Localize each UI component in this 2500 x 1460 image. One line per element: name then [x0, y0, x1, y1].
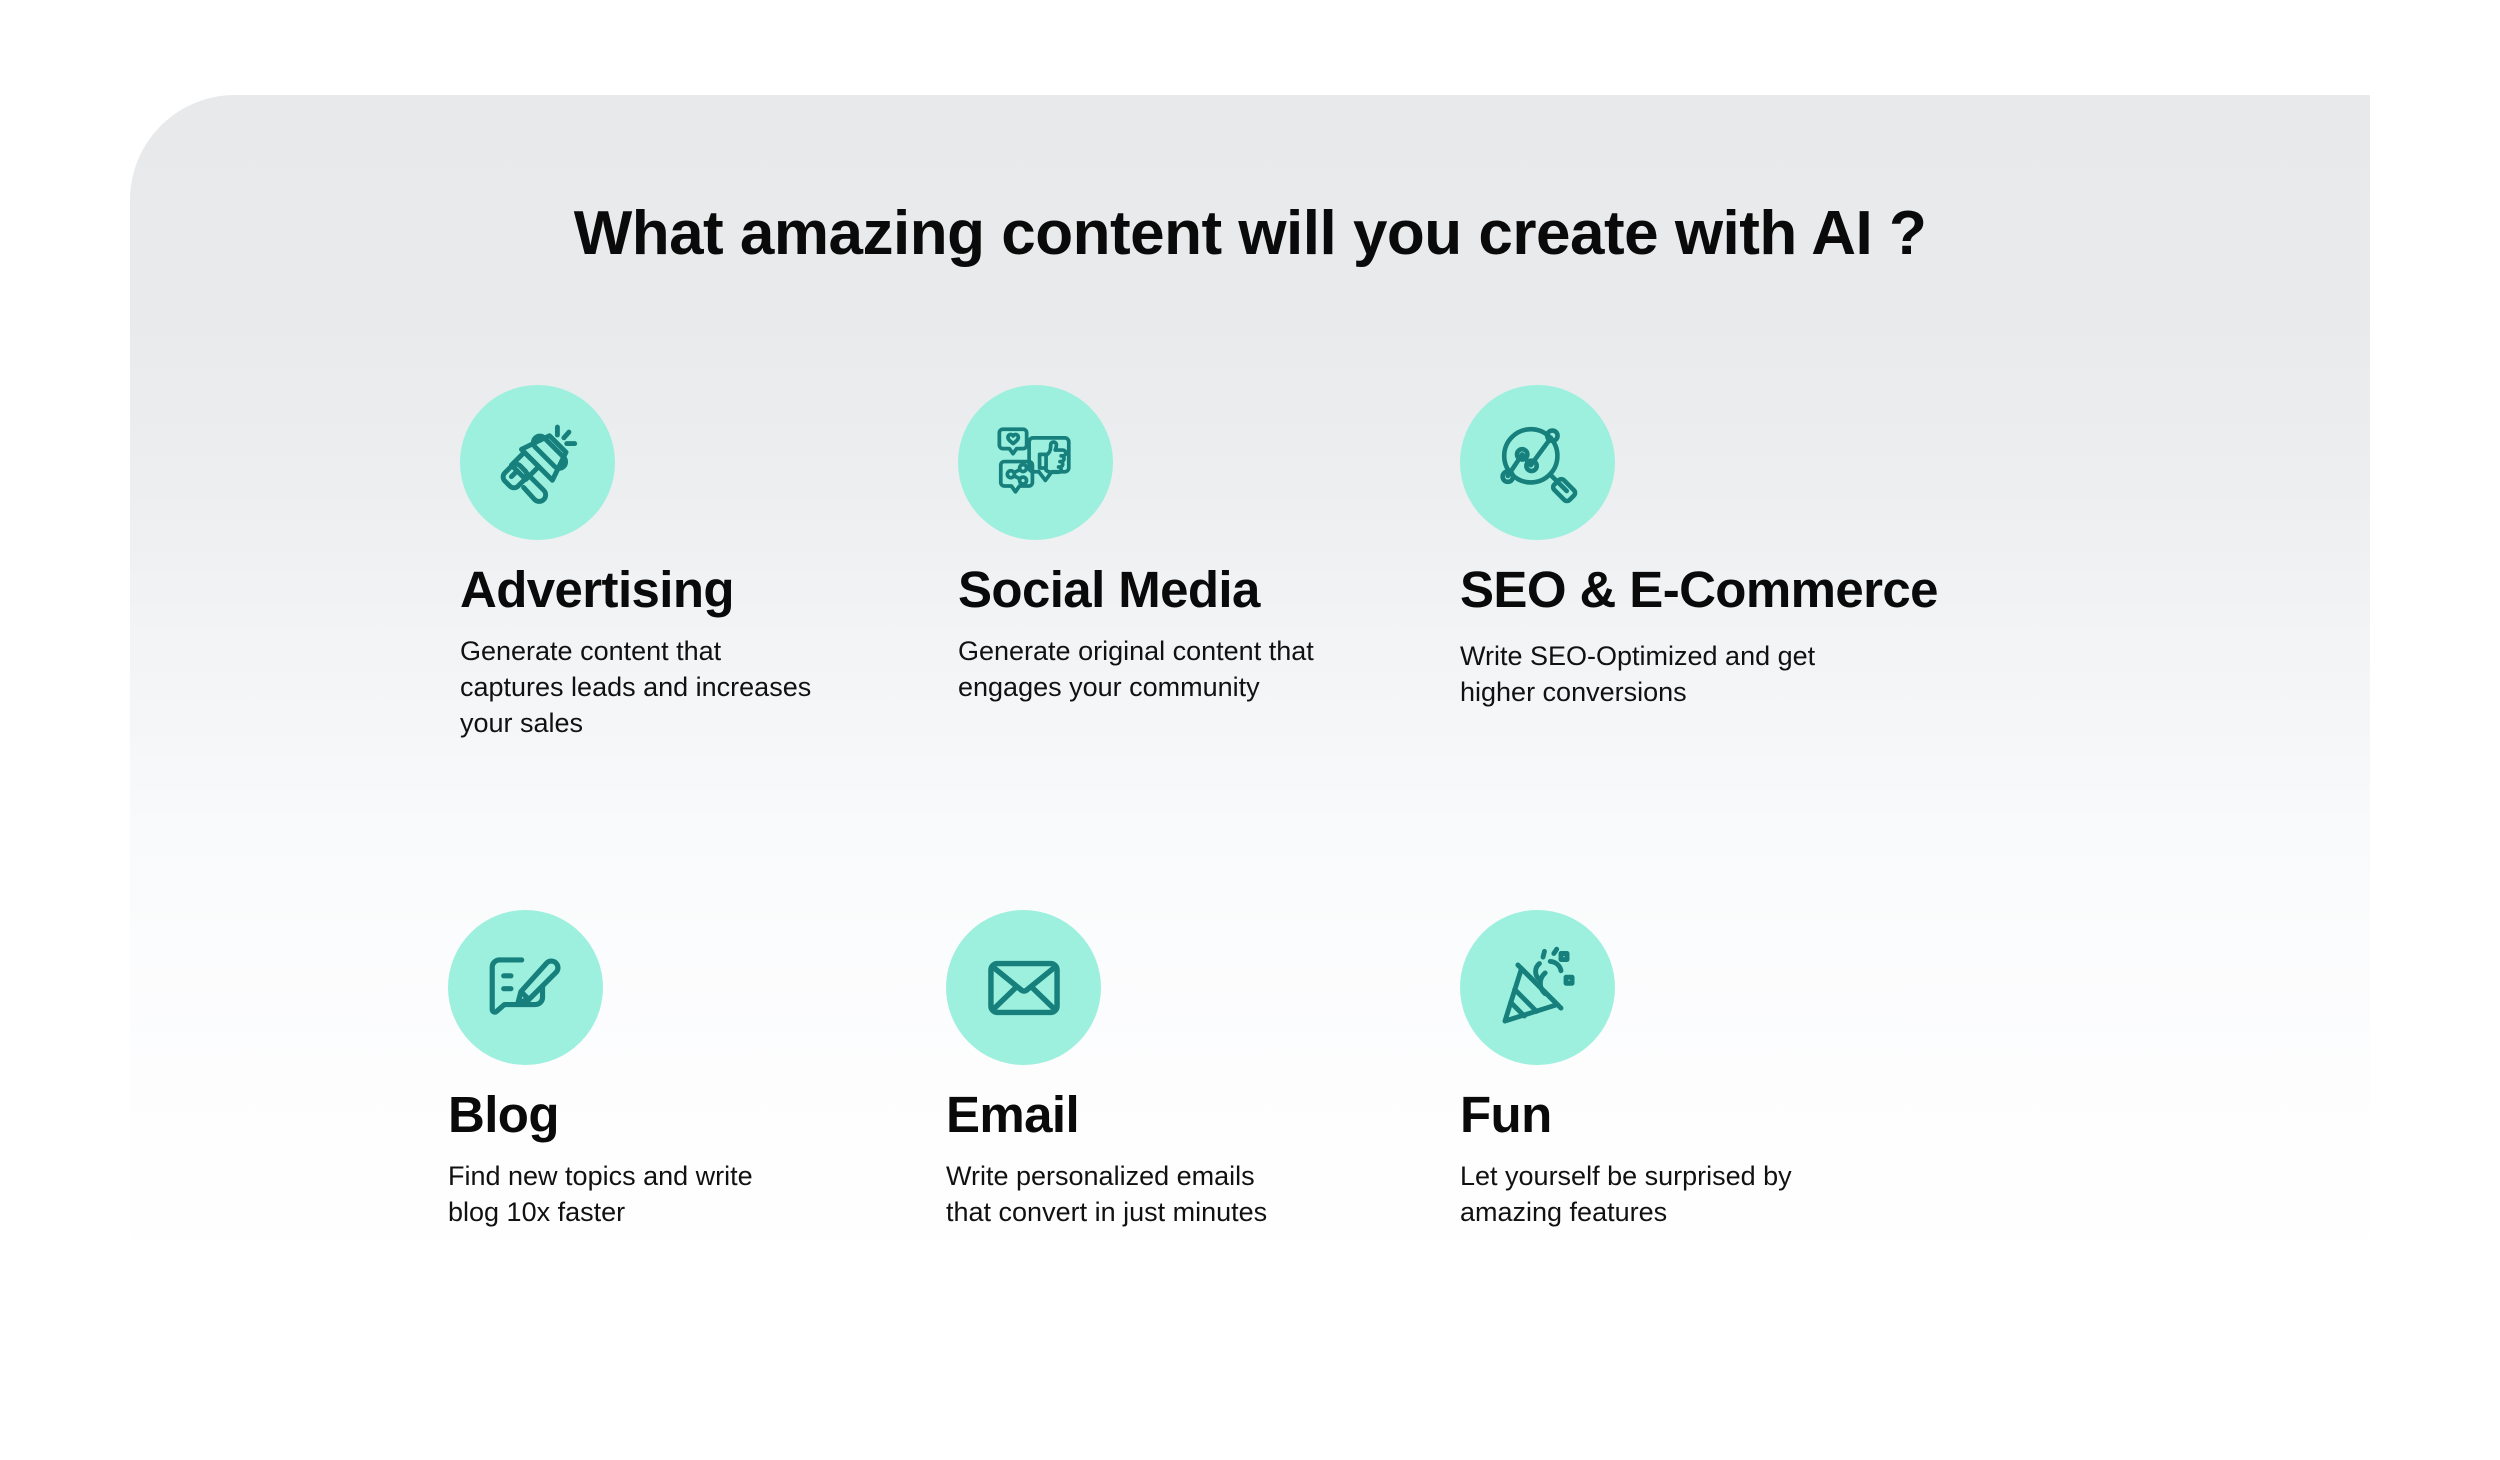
party-popper-icon [1492, 942, 1584, 1034]
feature-card-seo-ecommerce[interactable]: SEO & E-Commerce Write SEO-Optimized and… [1460, 385, 1980, 711]
social-engagement-icon [990, 417, 1082, 509]
feature-card-blog[interactable]: Blog Find new topics and write blog 10x … [448, 910, 968, 1231]
feature-description: Generate content that captures leads and… [460, 634, 820, 742]
feature-title: Email [946, 1087, 1466, 1142]
feature-title: Fun [1460, 1087, 1980, 1142]
feature-description: Generate original content that engages y… [958, 634, 1318, 706]
feature-title: Social Media [958, 562, 1478, 617]
envelope-icon-badge [946, 910, 1101, 1065]
feature-card-advertising[interactable]: Advertising Generate content that captur… [460, 385, 980, 742]
page-title: What amazing content will you create wit… [130, 198, 2370, 269]
feature-description: Find new topics and write blog 10x faste… [448, 1159, 808, 1231]
magnifier-chart-icon [1492, 417, 1584, 509]
feature-card-email[interactable]: Email Write personalized emails that con… [946, 910, 1466, 1231]
page-canvas: What amazing content will you create wit… [0, 0, 2500, 1460]
feature-description: Write personalized emails that convert i… [946, 1159, 1306, 1231]
feature-card-social-media[interactable]: Social Media Generate original content t… [958, 385, 1478, 706]
feature-card-fun[interactable]: Fun Let yourself be surprised by amazing… [1460, 910, 1980, 1231]
feature-title: SEO & E-Commerce [1460, 562, 1980, 617]
feature-title: Advertising [460, 562, 980, 617]
blog-pencil-icon [480, 942, 572, 1034]
features-panel: What amazing content will you create wit… [130, 95, 2370, 1275]
megaphone-icon [492, 417, 584, 509]
social-engagement-icon-badge [958, 385, 1113, 540]
feature-title: Blog [448, 1087, 968, 1142]
feature-description: Write SEO-Optimized and get higher conve… [1460, 639, 1820, 711]
blog-pencil-icon-badge [448, 910, 603, 1065]
feature-description: Let yourself be surprised by amazing fea… [1460, 1159, 1820, 1231]
magnifier-chart-icon-badge [1460, 385, 1615, 540]
megaphone-icon-badge [460, 385, 615, 540]
party-popper-icon-badge [1460, 910, 1615, 1065]
envelope-icon [978, 942, 1070, 1034]
